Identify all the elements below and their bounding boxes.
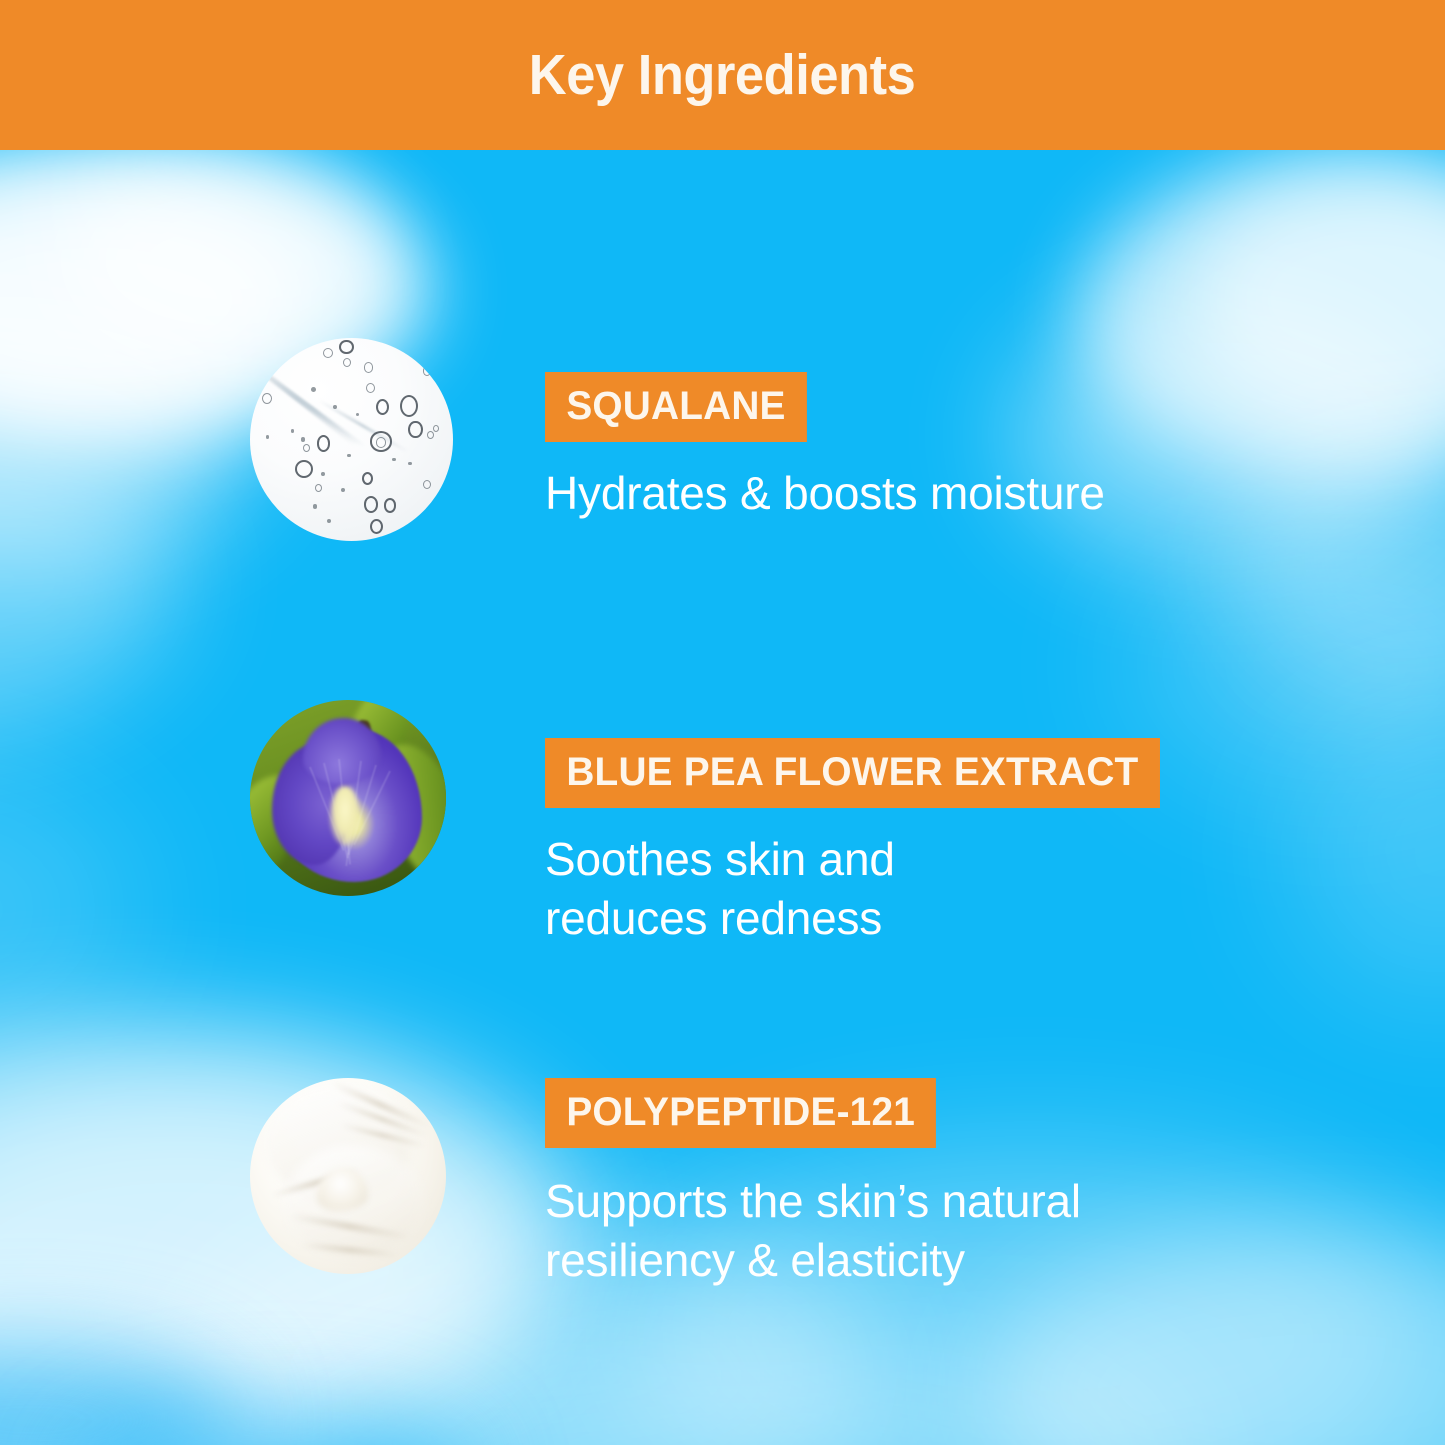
blue-pea-flower-icon: [250, 700, 446, 896]
cream-swirl-icon: [250, 1078, 446, 1274]
ingredient-description: Soothes skin and reduces redness: [545, 830, 1179, 948]
key-ingredients-poster: Key Ingredients: [0, 0, 1445, 1445]
ingredient-description: Supports the skin’s natural resiliency &…: [545, 1172, 1081, 1290]
squalane-gel-bubbles-icon: [250, 338, 453, 541]
ingredient-description: Hydrates & boosts moisture: [545, 464, 1105, 523]
ingredient-name-badge: SQUALANE: [545, 372, 807, 442]
ingredient-list: SQUALANE Hydrates & boosts moisture: [0, 0, 1445, 1445]
header-band: Key Ingredients: [0, 0, 1445, 150]
ingredient-text-blue-pea-flower-extract: BLUE PEA FLOWER EXTRACT Soothes skin and…: [545, 700, 1179, 948]
ingredient-row-blue-pea-flower-extract: BLUE PEA FLOWER EXTRACT Soothes skin and…: [250, 700, 1179, 948]
ingredient-name-badge: POLYPEPTIDE-121: [545, 1078, 936, 1148]
page-title: Key Ingredients: [529, 47, 916, 104]
ingredient-text-polypeptide-121: POLYPEPTIDE-121 Supports the skin’s natu…: [545, 1078, 1081, 1290]
ingredient-row-polypeptide-121: POLYPEPTIDE-121 Supports the skin’s natu…: [250, 1078, 1081, 1290]
ingredient-row-squalane: SQUALANE Hydrates & boosts moisture: [250, 338, 1105, 541]
ingredient-text-squalane: SQUALANE Hydrates & boosts moisture: [545, 338, 1105, 523]
ingredient-name-badge: BLUE PEA FLOWER EXTRACT: [545, 738, 1160, 808]
